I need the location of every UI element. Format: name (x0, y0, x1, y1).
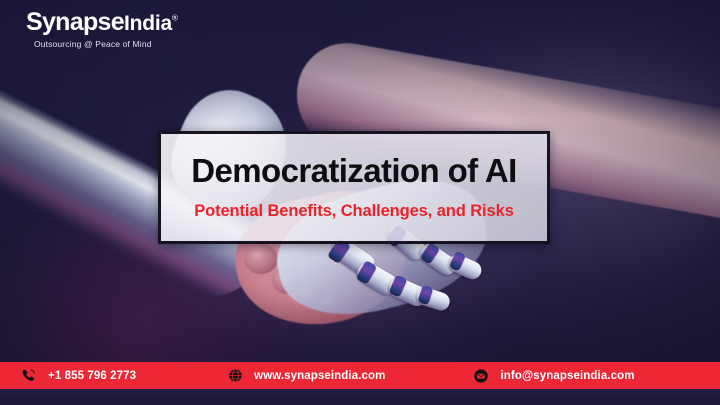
website-url-text: www.synapseindia.com (254, 370, 385, 382)
logo: SynapseIndia® Outsourcing @ Peace of Min… (26, 10, 177, 49)
footer-contact-phone[interactable]: +1 855 796 2773 (20, 362, 136, 389)
logo-secondary-text: India (124, 12, 172, 35)
phone-icon (20, 367, 37, 384)
email-address-text: info@synapseindia.com (500, 370, 634, 382)
slide-canvas: SynapseIndia® Outsourcing @ Peace of Min… (0, 0, 720, 405)
footer-contact-website[interactable]: www.synapseindia.com (228, 362, 385, 389)
registered-trademark-icon: ® (172, 14, 177, 23)
contact-footer-bar: +1 855 796 2773 www.synapseindia.com (0, 362, 720, 389)
footer-backdrop (0, 389, 720, 405)
logo-wordmark: SynapseIndia® (26, 10, 177, 35)
email-icon (473, 368, 489, 384)
page-title: Democratization of AI (191, 154, 516, 189)
logo-tagline: Outsourcing @ Peace of Mind (34, 39, 177, 49)
footer-contact-email[interactable]: info@synapseindia.com (473, 362, 634, 389)
globe-icon (228, 368, 243, 383)
phone-number-text: +1 855 796 2773 (48, 370, 136, 382)
logo-primary-text: Synapse (26, 8, 124, 36)
title-card: Democratization of AI Potential Benefits… (158, 131, 550, 244)
page-subtitle: Potential Benefits, Challenges, and Risk… (194, 202, 514, 221)
